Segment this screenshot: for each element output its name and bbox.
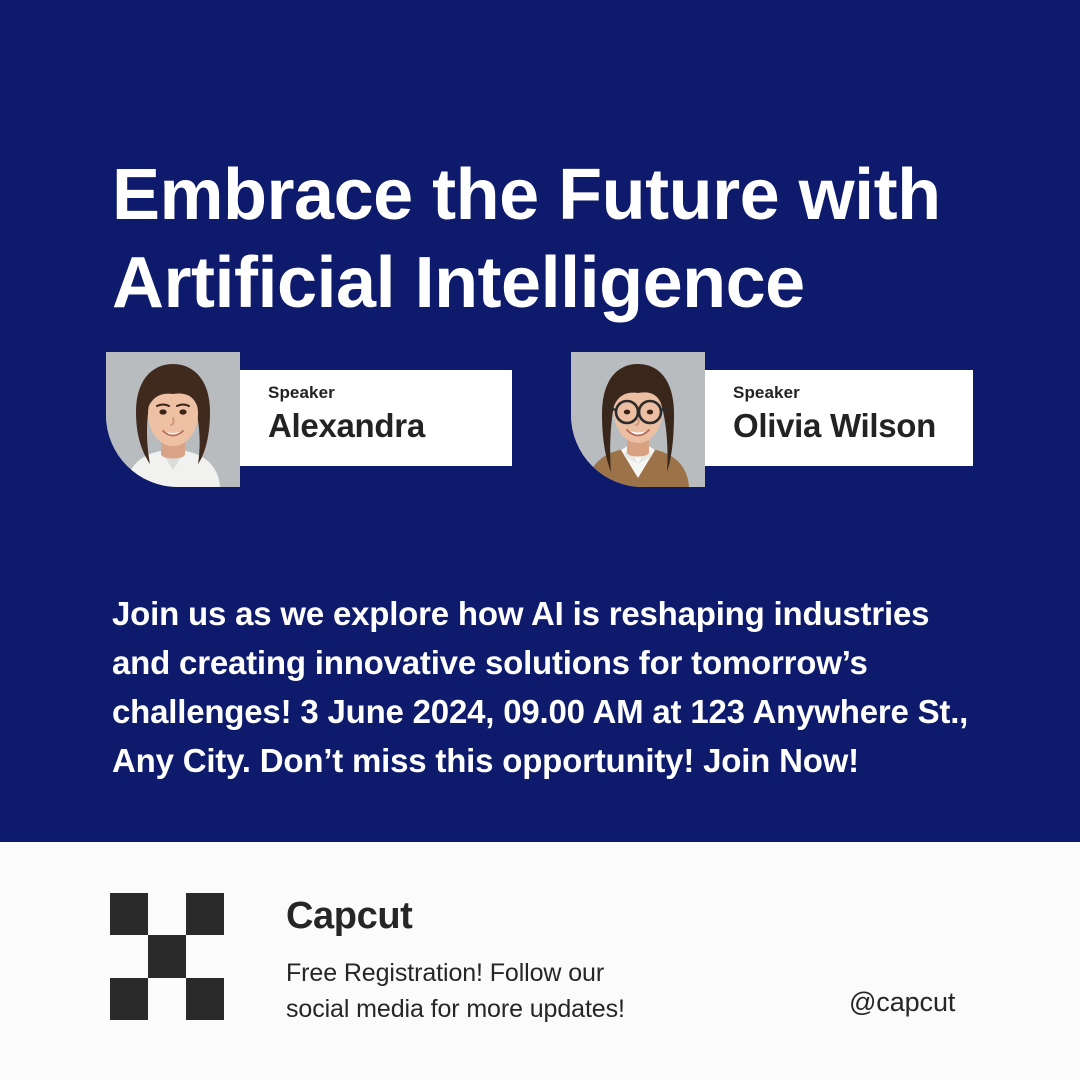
speaker-name: Olivia Wilson [733,405,973,448]
logo-cell-8 [186,978,224,1020]
logo-cell-5 [186,935,224,977]
name-plate-olivia-wilson: Speaker Olivia Wilson [705,370,973,466]
speaker-card-olivia-wilson: Speaker Olivia Wilson [571,352,973,488]
footer-tagline: Free Registration! Follow our social med… [286,955,625,1027]
social-handle[interactable]: @capcut [849,987,955,1018]
logo-cell-6 [110,978,148,1020]
speaker-role-label: Speaker [268,384,512,403]
logo-cell-7 [148,978,186,1020]
brand-name: Capcut [286,894,412,940]
logo-cell-4 [148,935,186,977]
logo-cell-3 [110,935,148,977]
speaker-card-alexandra: Speaker Alexandra [106,352,512,488]
page-title: Embrace the Future with Artificial Intel… [112,152,992,328]
checkerboard-x-logo [110,893,224,1020]
avatar-alexandra [106,352,240,487]
logo-cell-0 [110,893,148,935]
event-description: Join us as we explore how AI is reshapin… [112,589,992,785]
avatar-olivia-wilson [571,352,705,487]
footer-bar: Capcut Free Registration! Follow our soc… [0,842,1080,1080]
poster-canvas: Embrace the Future with Artificial Intel… [0,0,1080,1080]
speaker-name: Alexandra [268,405,512,448]
speaker-role-label: Speaker [733,384,973,403]
logo-cell-2 [186,893,224,935]
logo-cell-1 [148,893,186,935]
name-plate-alexandra: Speaker Alexandra [240,370,512,466]
speaker-list: Speaker Alexandra [0,352,1080,492]
